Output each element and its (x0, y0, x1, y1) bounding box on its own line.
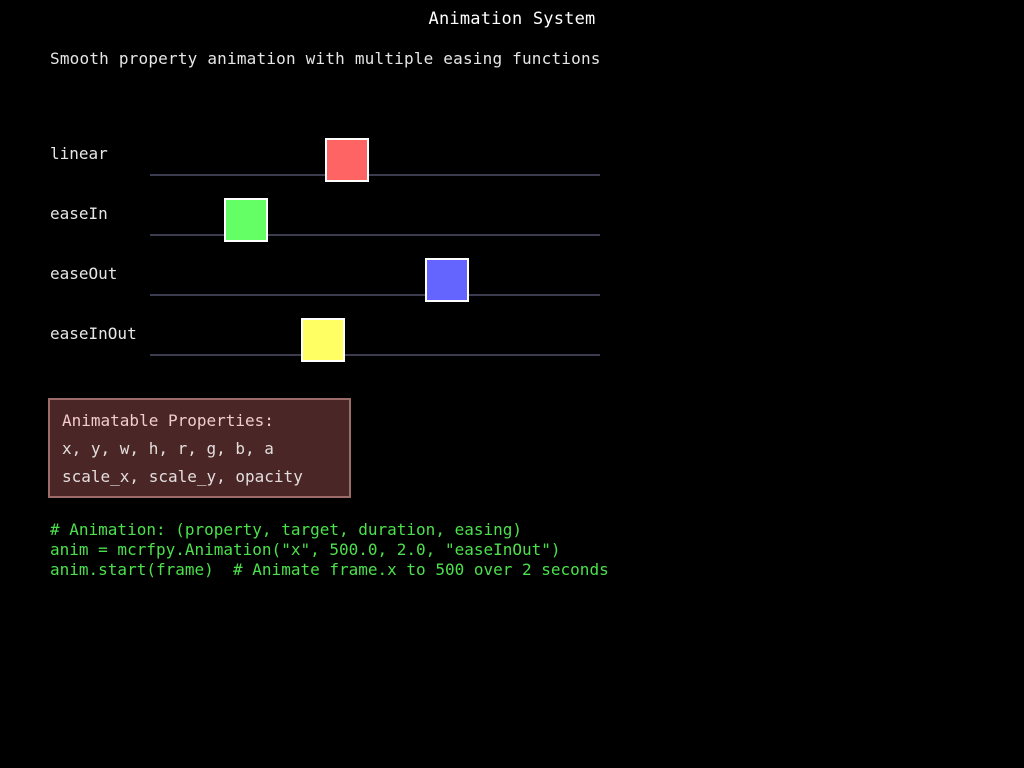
animatable-properties-panel: Animatable Properties: x, y, w, h, r, g,… (48, 398, 351, 498)
animatable-properties-title: Animatable Properties: (62, 411, 274, 430)
easing-track-line (150, 174, 600, 176)
easing-track-easein: easeIn (0, 190, 1024, 250)
easing-track-line (150, 294, 600, 296)
code-statement-line: anim = mcrfpy.Animation("x", 500.0, 2.0,… (50, 540, 561, 559)
easing-animated-box[interactable] (325, 138, 369, 182)
page-title: Animation System (0, 9, 1024, 29)
easing-track-label: easeIn (50, 204, 108, 223)
page-subtitle: Smooth property animation with multiple … (50, 49, 601, 68)
code-comment-line: # Animation: (property, target, duration… (50, 520, 522, 539)
easing-animated-box[interactable] (301, 318, 345, 362)
easing-track-line (150, 354, 600, 356)
animatable-properties-line: x, y, w, h, r, g, b, a (62, 439, 274, 458)
easing-animated-box[interactable] (425, 258, 469, 302)
easing-track-easeout: easeOut (0, 250, 1024, 310)
easing-track-label: linear (50, 144, 108, 163)
easing-track-line (150, 234, 600, 236)
app-canvas: Animation System Smooth property animati… (0, 0, 1024, 768)
easing-track-label: easeInOut (50, 324, 137, 343)
easing-track-easeinout: easeInOut (0, 310, 1024, 370)
easing-track-linear: linear (0, 130, 1024, 190)
code-statement-line: anim.start(frame) # Animate frame.x to 5… (50, 560, 609, 579)
easing-track-label: easeOut (50, 264, 117, 283)
easing-animated-box[interactable] (224, 198, 268, 242)
animatable-properties-line: scale_x, scale_y, opacity (62, 467, 303, 486)
